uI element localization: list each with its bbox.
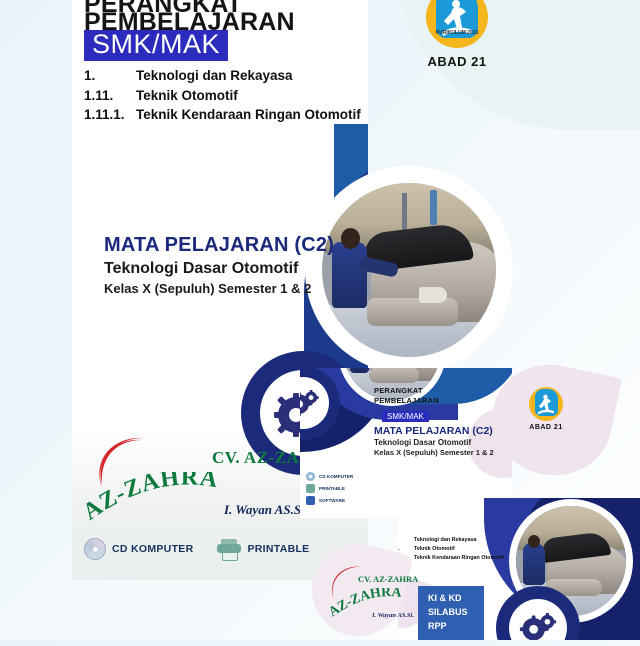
mockup-canvas: PERANGKAT PEMBELAJARAN SMK/MAK 1. Teknol…: [0, 0, 640, 640]
feature-label: PRINTABLE: [319, 486, 345, 491]
item-number: 1.11.: [84, 86, 136, 106]
feature-printable: PRINTABLE: [217, 539, 309, 559]
brand-arc-logo: AZ-ZAHRA: [82, 472, 242, 528]
cover2-subject-line2: Teknologi Dasar Otomotif: [374, 438, 494, 449]
gears-icon: [518, 613, 558, 640]
item-label: Teknologi dan Rekayasa: [136, 66, 293, 86]
list-item: 1.11.1. Teknik Kendaraan Ringan Otomotif: [84, 105, 364, 125]
abad21-caption: ABAD 21: [414, 54, 500, 69]
cd-icon: [306, 472, 315, 481]
cover2-feature-list: CD KOMPUTER PRINTABLE SOFTWARE: [306, 472, 353, 508]
svg-text:AZ-ZAHRA: AZ-ZAHRA: [82, 472, 220, 526]
feature-printable: PRINTABLE: [306, 484, 353, 493]
feature-software: SOFTWARE: [306, 496, 353, 505]
feature-label: PRINTABLE: [247, 543, 309, 555]
feature-label: CD KOMPUTER: [112, 543, 193, 555]
brand-block: CV. AZ-ZAHRA AZ-ZAHRA I. Wayan AS.S. Si: [84, 440, 314, 540]
subject-line1: MATA PELAJARAN (C2): [104, 234, 334, 257]
cover2-text-block: PERANGKAT PEMBELAJARAN SMK/MAK MATA PELA…: [374, 386, 494, 459]
feature-label: CD KOMPUTER: [319, 474, 353, 479]
kurikulum-disc: [529, 387, 563, 421]
printer-icon: [217, 539, 241, 559]
abad21-logo: KURIKULUM 2013 ABAD 21: [414, 0, 500, 72]
subject-block: MATA PELAJARAN (C2) Teknologi Dasar Otom…: [104, 234, 334, 296]
abad21-ring-text: KURIKULUM 2013: [414, 30, 500, 36]
cover2-subject-line1: MATA PELAJARAN (C2): [374, 425, 494, 438]
item-label: Teknik Otomotif: [136, 86, 238, 106]
cd-icon: [84, 538, 106, 560]
gears-icon: [300, 390, 320, 416]
brand-mini-publisher: CV. AZ-ZAHRA: [358, 574, 418, 584]
printer-icon: [306, 484, 315, 493]
feature-cd: CD KOMPUTER: [306, 472, 353, 481]
list-item: 1. Teknologi dan Rekayasa: [84, 66, 364, 86]
abad21-logo-small: ABAD 21: [518, 387, 574, 443]
item-label: Teknik Kendaraan Ringan Otomotif: [136, 105, 361, 125]
cover2: PERANGKAT PEMBELAJARAN SMK/MAK MATA PELA…: [300, 368, 512, 518]
cover2-subject-line3: Kelas X (Sepuluh) Semester 1 & 2: [374, 448, 494, 458]
item-number: 1.: [84, 66, 136, 86]
kurikulum-disc: [426, 0, 488, 48]
cover2-header-line2: PEMBELAJARAN: [374, 396, 494, 406]
brand-mini-author: I. Wayan AS.Si.: [372, 612, 414, 619]
main-photo: [322, 183, 496, 357]
program-list: 1. Teknologi dan Rekayasa 1.11. Teknik O…: [84, 66, 364, 125]
feature-cd: CD KOMPUTER: [84, 538, 193, 560]
feature-label: SOFTWARE: [319, 498, 345, 503]
subject-line2: Teknologi Dasar Otomotif: [104, 260, 334, 278]
cover2-header-line1: PERANGKAT: [374, 386, 494, 396]
level-badge: SMK/MAK: [84, 30, 228, 61]
item-number: 1.11.1.: [84, 105, 136, 125]
petal-abad-logo: ABAD 21: [492, 365, 612, 475]
list-item: 1.11. Teknik Otomotif: [84, 86, 364, 106]
software-icon: [306, 496, 315, 505]
cover2-level-badge: SMK/MAK: [382, 411, 429, 422]
feature-row: CD KOMPUTER PRINTABLE: [84, 538, 327, 560]
subject-line3: Kelas X (Sepuluh) Semester 1 & 2: [104, 281, 334, 296]
brand-mini-block: CV. AZ-ZAHRA AZ-ZAHRA I. Wayan AS.Si.: [312, 540, 462, 636]
abad21-caption: ABAD 21: [518, 424, 574, 431]
